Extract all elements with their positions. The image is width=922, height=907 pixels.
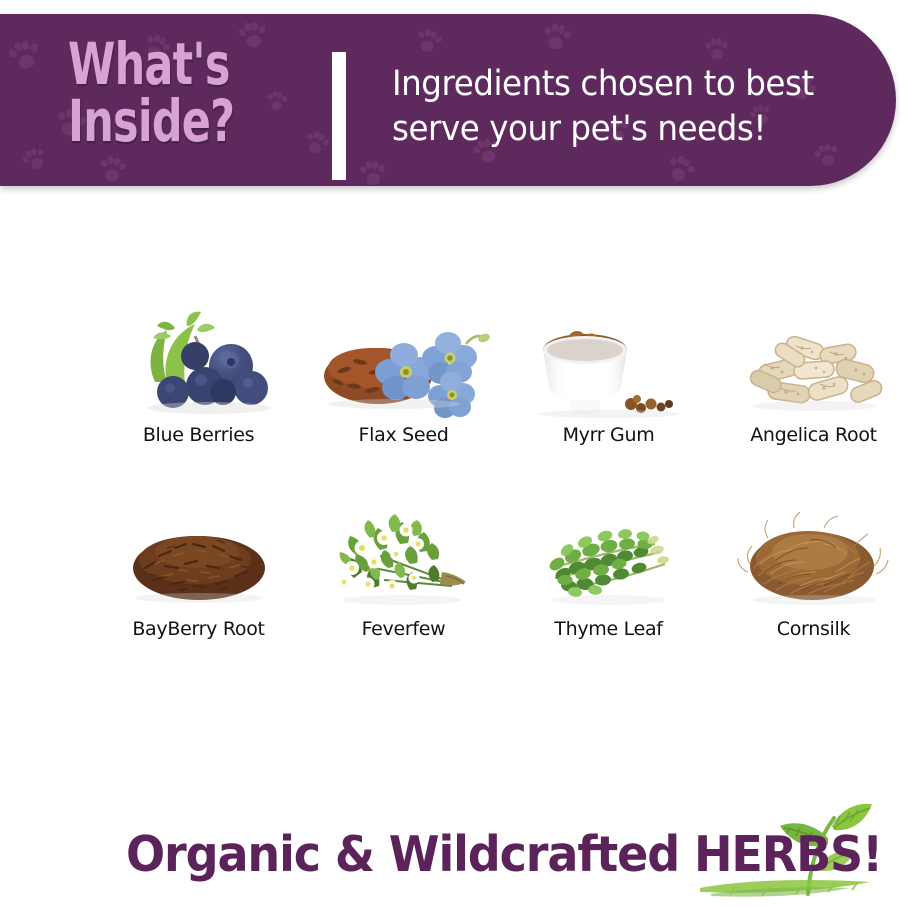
- banner-divider: [332, 52, 346, 180]
- banner-heading: What's Inside?: [68, 36, 253, 150]
- banner-background: What's Inside? Ingredients chosen to bes…: [0, 14, 896, 186]
- ingredient-label: Thyme Leaf: [554, 618, 662, 640]
- blueberries-icon: [109, 300, 289, 418]
- ingredient-item-thyme-leaf: Thyme Leaf: [506, 494, 711, 640]
- ingredient-item-blue-berries: Blue Berries: [96, 300, 301, 446]
- ingredient-label: Cornsilk: [777, 618, 850, 640]
- ingredient-item-angelica-root: Angelica Root: [711, 300, 916, 446]
- ingredient-label: Myrr Gum: [563, 424, 655, 446]
- cornsilk-icon: [724, 494, 904, 612]
- banner-tagline: Ingredients chosen to best serve your pe…: [392, 62, 838, 152]
- ingredient-item-flax-seed: Flax Seed: [301, 300, 506, 446]
- ingredient-item-myrr-gum: Myrr Gum: [506, 300, 711, 446]
- banner-tagline-line2: serve your pet's needs!: [392, 107, 838, 152]
- ingredient-item-bayberry-root: BayBerry Root: [96, 494, 301, 640]
- angelica-root-icon: [724, 300, 904, 418]
- banner-heading-line2: Inside?: [68, 93, 253, 150]
- footer: Organic & Wildcrafted HERBS!: [0, 820, 922, 900]
- banner-tagline-line1: Ingredients chosen to best: [392, 62, 838, 107]
- feverfew-icon: [314, 494, 494, 612]
- thyme-leaf-icon: [519, 494, 699, 612]
- ingredient-row-2: BayBerry Root: [96, 494, 916, 640]
- ingredient-grid: Blue Berries: [96, 300, 916, 640]
- bayberry-root-icon: [109, 494, 289, 612]
- footer-tagline: Organic & Wildcrafted HERBS!: [126, 826, 882, 883]
- ingredient-label: Angelica Root: [750, 424, 877, 446]
- ingredient-label: Blue Berries: [143, 424, 254, 446]
- ingredient-item-cornsilk: Cornsilk: [711, 494, 916, 640]
- ingredient-label: Feverfew: [362, 618, 446, 640]
- myrrh-gum-bowl-icon: [519, 300, 699, 418]
- ingredient-row-1: Blue Berries: [96, 300, 916, 446]
- flax-seed-icon: [314, 300, 494, 418]
- ingredient-label: BayBerry Root: [132, 618, 264, 640]
- header-banner: What's Inside? Ingredients chosen to bes…: [0, 14, 896, 186]
- ingredient-item-feverfew: Feverfew: [301, 494, 506, 640]
- ingredient-label: Flax Seed: [359, 424, 449, 446]
